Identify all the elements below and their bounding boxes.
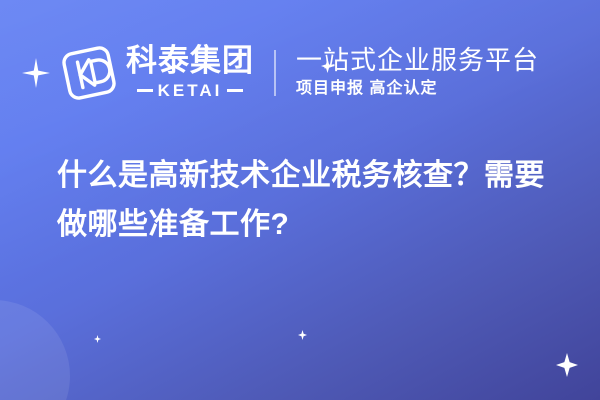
brand-name-en: KETAI	[158, 81, 223, 101]
sparkle-icon	[22, 58, 50, 88]
soft-circle-decoration	[0, 300, 70, 400]
sparkle-small-center-icon	[298, 330, 307, 340]
tagline-main: 一站式企业服务平台	[296, 46, 539, 75]
brand-rule-right	[227, 89, 243, 92]
brand-wordmark: 科泰集团 KETAI	[126, 45, 254, 101]
ketai-logo-icon	[58, 42, 120, 104]
brand-name-cn: 科泰集团	[126, 45, 254, 78]
article-cover-banner: 科泰集团 KETAI 一站式企业服务平台 项目申报 高企认定 什么是高新技术企业…	[0, 0, 600, 400]
header-divider	[274, 50, 276, 96]
brand-rule-left	[137, 89, 153, 92]
tagline-block: 一站式企业服务平台 项目申报 高企认定	[296, 46, 539, 100]
sparkle-large-right-icon	[556, 353, 578, 377]
tagline-sub: 项目申报 高企认定	[296, 79, 539, 100]
brand-name-en-row: KETAI	[126, 81, 254, 101]
brand-lockup[interactable]: 科泰集团 KETAI	[22, 42, 254, 104]
sparkle-small-left-icon	[94, 335, 101, 343]
page-title: 什么是高新技术企业税务核查？需要做哪些准备工作?	[57, 152, 557, 249]
banner-header: 科泰集团 KETAI 一站式企业服务平台 项目申报 高企认定	[0, 28, 600, 118]
